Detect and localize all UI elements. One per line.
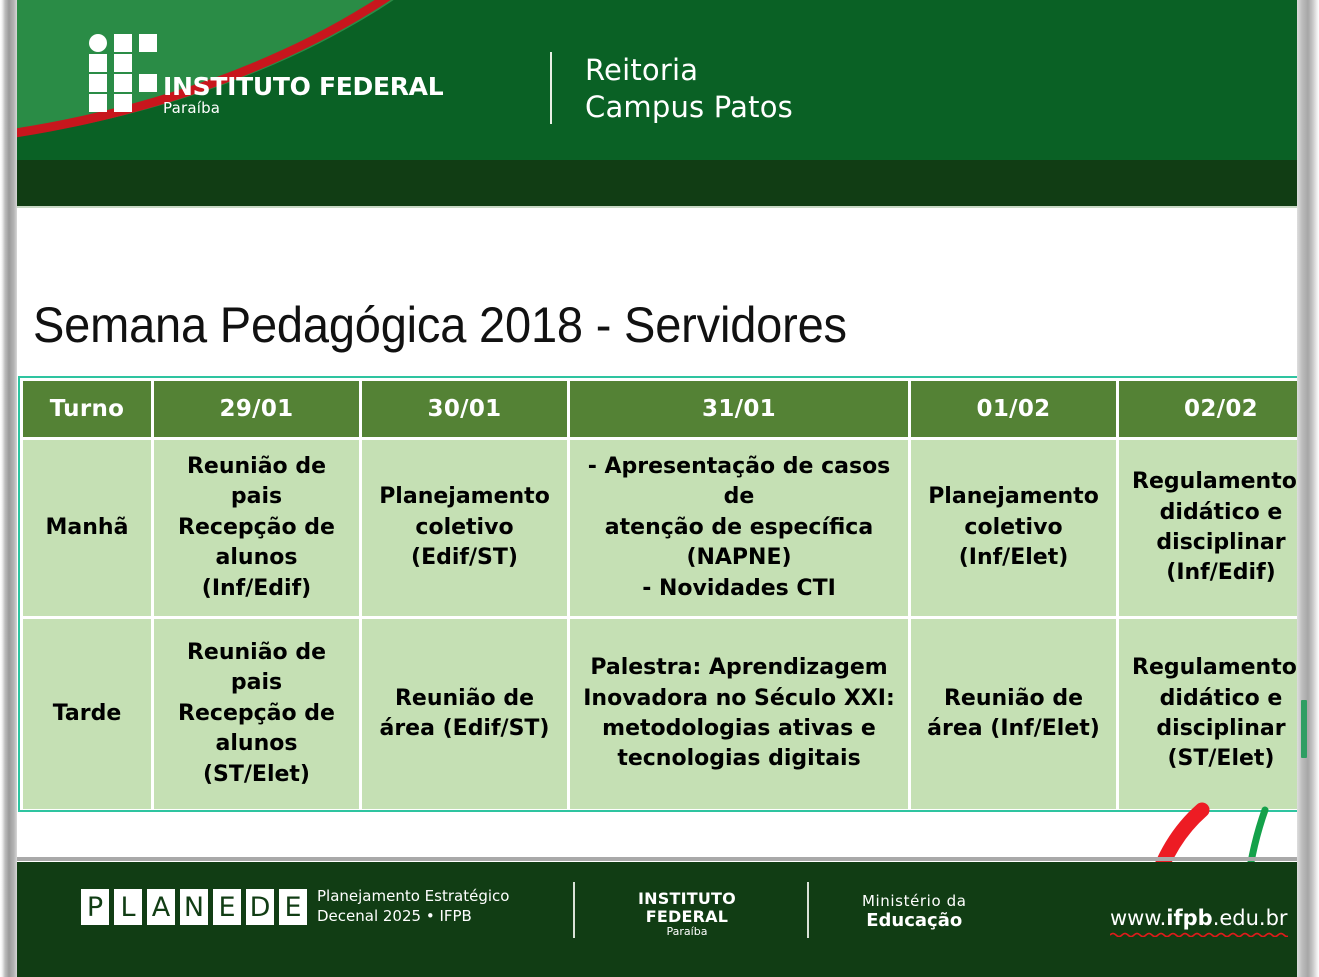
cell-line: atenção de específica [578, 513, 900, 543]
cell-manha-29-01[interactable]: Reunião de pais Recepção de alunos (Inf/… [154, 440, 359, 616]
cell-line: coletivo [919, 513, 1108, 543]
planede-letter: L [113, 888, 143, 926]
cell-line: - Apresentação de casos de [578, 452, 900, 513]
table-header-row: Turno 29/01 30/01 31/01 01/02 02/02 [23, 381, 1319, 437]
cell-line: Reunião de [370, 684, 559, 714]
window-right-scrollbar-track[interactable] [1297, 0, 1319, 977]
cell-line: (NAPNE) [578, 543, 900, 573]
vertical-scrollbar-thumb[interactable] [1301, 700, 1307, 758]
presentation-slide: INSTITUTO FEDERAL Paraíba Reitoria Campu… [0, 0, 1319, 977]
cell-line: alunos (ST/Elet) [162, 729, 351, 790]
header-unit-text: Reitoria Campus Patos [585, 52, 793, 126]
cell-line: Inovadora no Século XXI: [578, 684, 900, 714]
planede-subtitle-line1: Planejamento Estratégico [317, 887, 509, 907]
footer-mec-line1: Ministério da [862, 892, 967, 910]
cell-line: Reunião de pais [162, 452, 351, 513]
planede-letter: A [146, 888, 176, 926]
cell-line: disciplinar [1127, 714, 1315, 744]
cell-manha-31-01[interactable]: - Apresentação de casos de atenção de es… [570, 440, 908, 616]
cell-line: Recepção de [162, 513, 351, 543]
footer-ifpb-line2: FEDERAL [638, 908, 736, 926]
footer-mec-line2: Educação [862, 910, 967, 932]
cell-line: coletivo [370, 513, 559, 543]
cell-line: Reunião de pais [162, 638, 351, 699]
cell-line: (Inf/Elet) [919, 543, 1108, 573]
header-unit-line2: Campus Patos [585, 89, 793, 126]
cell-line: Planejamento [370, 482, 559, 512]
cell-line: (ST/Elet) [1127, 744, 1315, 774]
cell-line: didático e [1127, 498, 1315, 528]
cell-manha-30-01[interactable]: Planejamento coletivo (Edif/ST) [362, 440, 567, 616]
planede-letter: N [179, 888, 209, 926]
column-header-31-01[interactable]: 31/01 [570, 381, 908, 437]
cell-tarde-31-01[interactable]: Palestra: Aprendizagem Inovadora no Sécu… [570, 619, 908, 809]
cell-tarde-02-02[interactable]: Regulamentos didático e disciplinar (ST/… [1119, 619, 1319, 809]
footer-mec-logo: Ministério da Educação [862, 892, 967, 932]
footer-website-url[interactable]: www.ifpb.edu.br [1110, 906, 1288, 930]
cell-turno-tarde[interactable]: Tarde [23, 619, 151, 809]
cell-line: (Edif/ST) [370, 543, 559, 573]
ifpb-wordmark: INSTITUTO FEDERAL Paraíba [163, 74, 443, 116]
window-left-edge [0, 0, 17, 977]
column-header-01-02[interactable]: 01/02 [911, 381, 1116, 437]
table-row: Manhã Reunião de pais Recepção de alunos… [23, 440, 1319, 616]
cell-tarde-01-02[interactable]: Reunião de área (Inf/Elet) [911, 619, 1116, 809]
cell-line: Palestra: Aprendizagem [578, 653, 900, 683]
slide-footer: P L A N E D E Planejamento Estratégico D… [17, 862, 1302, 977]
ifpb-logo-icon [89, 34, 157, 112]
planede-letter: D [245, 888, 275, 926]
page-title: Semana Pedagógica 2018 - Servidores [33, 296, 847, 354]
cell-line: metodologias ativas e [578, 714, 900, 744]
footer-divider-1 [573, 882, 575, 938]
schedule-table[interactable]: Turno 29/01 30/01 31/01 01/02 02/02 Manh… [20, 378, 1319, 812]
url-suffix: .edu.br [1213, 906, 1288, 930]
url-prefix: www. [1110, 906, 1166, 930]
planede-subtitle-line2: Decenal 2025 • IFPB [317, 907, 509, 927]
column-header-30-01[interactable]: 30/01 [362, 381, 567, 437]
ifpb-wordmark-line2: Paraíba [163, 101, 443, 116]
planede-letter: E [212, 888, 242, 926]
column-header-29-01[interactable]: 29/01 [154, 381, 359, 437]
cell-tarde-29-01[interactable]: Reunião de pais Recepção de alunos (ST/E… [154, 619, 359, 809]
cell-manha-01-02[interactable]: Planejamento coletivo (Inf/Elet) [911, 440, 1116, 616]
column-header-02-02[interactable]: 02/02 [1119, 381, 1319, 437]
cell-line: disciplinar [1127, 528, 1315, 558]
cell-line: Reunião de [919, 684, 1108, 714]
footer-ifpb-line1: INSTITUTO [638, 890, 736, 908]
ifpb-wordmark-line1: INSTITUTO FEDERAL [163, 74, 443, 99]
slide-header: INSTITUTO FEDERAL Paraíba Reitoria Campu… [17, 0, 1302, 160]
cell-tarde-30-01[interactable]: Reunião de área (Edif/ST) [362, 619, 567, 809]
cell-manha-02-02[interactable]: Regulamentos didático e disciplinar (Inf… [1119, 440, 1319, 616]
cell-line: didático e [1127, 684, 1315, 714]
planede-letter: P [80, 888, 110, 926]
cell-line: - Novidades CTI [578, 574, 900, 604]
footer-ifpb-line3: Paraíba [638, 926, 736, 938]
header-unit-line1: Reitoria [585, 52, 793, 89]
url-brand: ifpb [1166, 906, 1212, 930]
cell-line: Regulamentos [1127, 653, 1315, 683]
column-header-turno[interactable]: Turno [23, 381, 151, 437]
cell-line: Recepção de [162, 699, 351, 729]
planede-letter-boxes: P L A N E D E [80, 888, 311, 926]
cell-line: área (Inf/Elet) [919, 714, 1108, 744]
footer-divider-2 [807, 882, 809, 938]
header-dark-strip [17, 160, 1302, 208]
table-row: Tarde Reunião de pais Recepção de alunos… [23, 619, 1319, 809]
header-vertical-divider [550, 52, 552, 124]
footer-top-hairline [17, 857, 1302, 861]
cell-turno-manha[interactable]: Manhã [23, 440, 151, 616]
cell-line: Planejamento [919, 482, 1108, 512]
planede-subtitle: Planejamento Estratégico Decenal 2025 • … [317, 887, 509, 926]
cell-line: (Inf/Edif) [1127, 558, 1315, 588]
header-strip-hairline [17, 206, 1302, 208]
cell-line: Regulamentos [1127, 467, 1315, 497]
cell-line: alunos (Inf/Edif) [162, 543, 351, 604]
cell-line: área (Edif/ST) [370, 714, 559, 744]
spellcheck-underline-icon [1110, 932, 1288, 937]
footer-ifpb-logo: INSTITUTO FEDERAL Paraíba [638, 890, 736, 938]
cell-line: tecnologias digitais [578, 744, 900, 774]
planede-logo: P L A N E D E Planejamento Estratégico D… [80, 887, 509, 926]
planede-letter: E [278, 888, 308, 926]
